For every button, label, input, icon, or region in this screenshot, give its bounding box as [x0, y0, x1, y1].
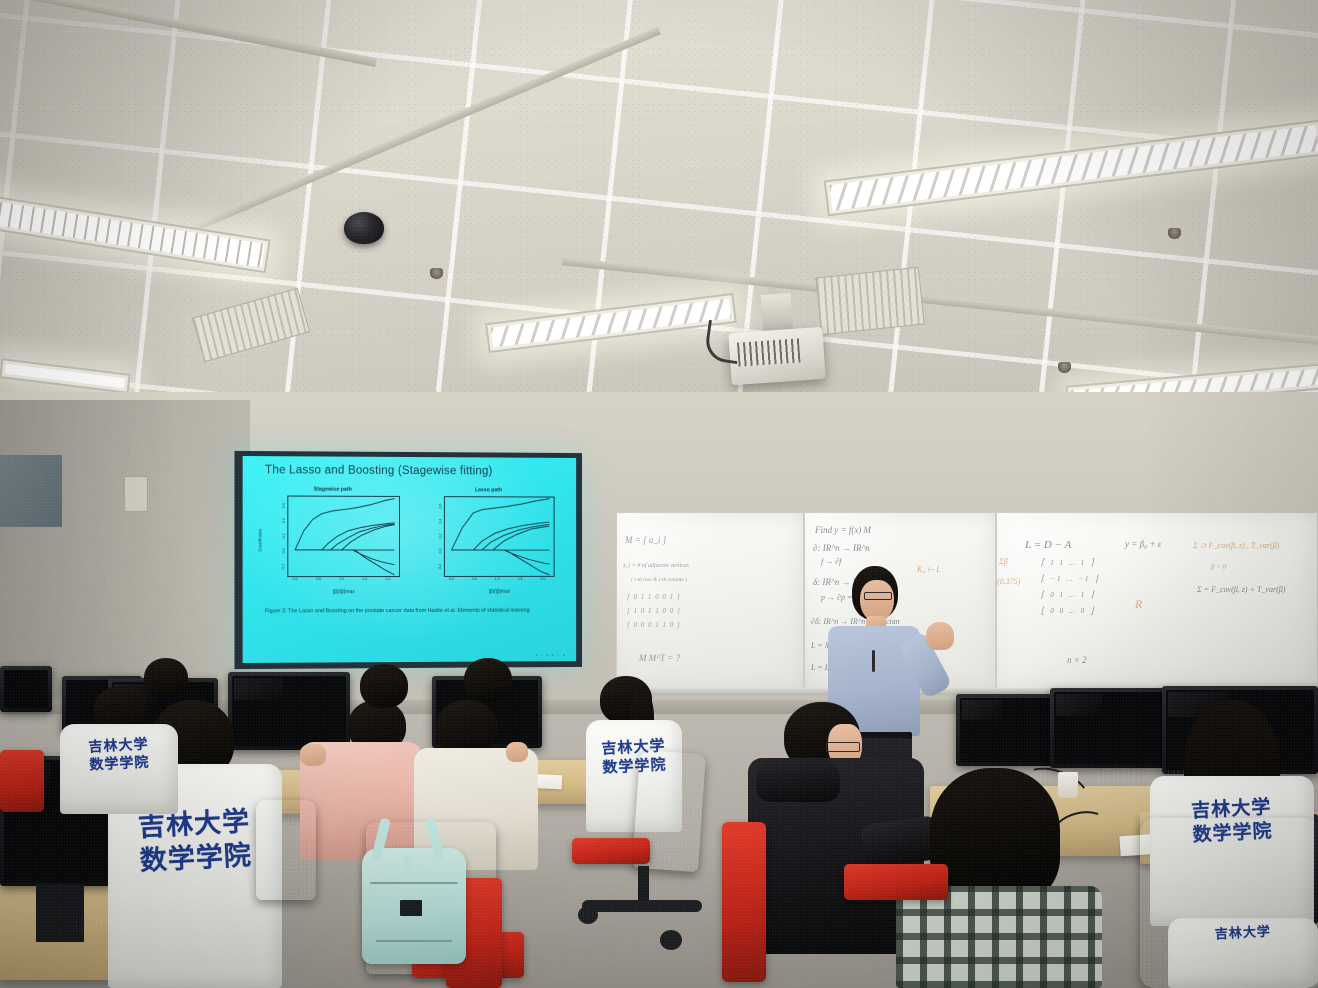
y-tick: 0.6: [282, 504, 286, 509]
computer-monitor: [0, 666, 52, 712]
instructor-raised-hand: [926, 622, 954, 650]
wb-note-highlight: Σ ⊃ F_cov(β, z) , T_var(β): [1193, 541, 1279, 550]
glasses-icon: [826, 742, 860, 752]
x-tick: 1.0: [495, 577, 500, 581]
wb-note: ∂: IR^n → IR^n: [813, 543, 870, 553]
wb-note-highlight: (0.375): [997, 577, 1020, 586]
monitor-glare: [962, 700, 1002, 720]
student-mid-row: [460, 658, 516, 718]
wb-note-highlight: β = 0: [1211, 563, 1226, 571]
slide-surface: The Lasso and Boosting (Stagewise fittin…: [243, 456, 577, 663]
red-stacking-chair[interactable]: [722, 822, 766, 982]
x-axis-label: |β|/|β|max: [287, 589, 400, 595]
left-wall-window-panel: [0, 455, 62, 527]
backpack[interactable]: [362, 848, 466, 964]
y-tick: 0.2: [438, 533, 442, 538]
security-camera-dome-icon: [344, 212, 384, 244]
y-tick: -0.2: [438, 563, 442, 569]
office-chair-back[interactable]: [1140, 818, 1318, 988]
panel-title: Stagewise path: [261, 486, 404, 493]
backpack-logo-tag: [400, 900, 422, 916]
office-chair-seat[interactable]: [572, 838, 650, 864]
wb-note: [ 1 0 1 1 0 0 ]: [627, 607, 681, 615]
backpack-handle: [404, 854, 412, 880]
y-axis-label: Coordinates: [257, 529, 262, 552]
wb-note-matrix: ⎣ 0 0 … 0 ⎦: [1041, 607, 1095, 615]
student-mid-row: [356, 664, 412, 724]
classroom-photo: The Lasso and Boosting (Stagewise fittin…: [0, 0, 1318, 988]
wb-note: x_i = # of adjacent vertices: [623, 563, 689, 569]
y-tick: -0.2: [281, 563, 285, 569]
wb-note: [ 0 1 1 0 0 1 ]: [627, 593, 681, 601]
student-head: [360, 664, 408, 708]
sprinkler-head-icon: [1058, 362, 1071, 373]
wb-note: ( i-th row & j-th column ): [631, 577, 687, 583]
wb-note-matrix: ⎢ −1 … −1 ⎥: [1041, 575, 1100, 583]
chart-panel-lasso: Lasso path -0.2 0.0 0.2 0.4 0.6 0.0 0.5 …: [418, 487, 559, 597]
x-tick: 1.5: [362, 577, 367, 581]
student-hair: [930, 768, 1060, 904]
wb-note-matrix: ⎡ 1 1 … 1 ⎤: [1041, 559, 1095, 567]
x-tick: 2.0: [385, 577, 390, 581]
wb-note: L = D − A: [1025, 539, 1071, 551]
x-tick: 0.5: [316, 577, 321, 581]
whiteboard-right[interactable]: L = D − A y = β₀ + ε Σ ⊃ F_cov(β, z) , T…: [996, 512, 1318, 690]
wall-control-box: [124, 476, 148, 512]
wb-note: f → ∂f: [821, 557, 841, 566]
slide-figure: Stagewise path Coordinates -0.2 0.0 0.2 …: [261, 486, 559, 597]
chair-base: [582, 900, 702, 912]
student-head: [464, 658, 512, 702]
computer-monitor: [956, 694, 1056, 766]
monitor-glare: [234, 678, 283, 700]
wb-note: M M^T = ?: [639, 653, 680, 663]
red-stacking-chair[interactable]: [0, 750, 44, 812]
lasso-path-curves: [445, 497, 554, 576]
x-tick: 0.0: [449, 577, 454, 581]
projection-screen: The Lasso and Boosting (Stagewise fittin…: [234, 451, 582, 669]
y-tick: 0.2: [282, 533, 286, 538]
shirt-university-text: 吉林大学 数学学院: [59, 735, 179, 776]
wb-note: M = [ a_i ]: [625, 535, 666, 545]
wb-note: y = β₀ + ε: [1125, 539, 1161, 549]
student-mid-row: [140, 658, 190, 718]
wb-note: Σ = F_cov(β, z) + T_var(β): [1197, 585, 1285, 594]
wb-note: n × 2: [1067, 655, 1087, 665]
slide-caption: Figure 3: The Lasso and Boosting on the …: [265, 607, 562, 616]
x-tick: 2.0: [540, 577, 545, 581]
student-head: [144, 658, 188, 698]
stagewise-path-curves: [288, 497, 399, 577]
y-tick: 0.6: [438, 504, 442, 509]
x-axis-label: |β|/|β|max: [444, 589, 555, 595]
wb-note-highlight: Σβ: [999, 557, 1008, 566]
backpack-zipper: [370, 882, 458, 884]
office-chair-back[interactable]: [256, 800, 316, 900]
y-tick: 0.4: [438, 518, 442, 523]
hoodie-hood: [756, 758, 840, 802]
chair-caster: [660, 930, 682, 950]
lapel-microphone: [872, 650, 875, 672]
slide-navigation-controls[interactable]: ◂ ▪ ◂ ▸ ▪ ▸: [535, 652, 566, 657]
plot-area: -0.2 0.0 0.2 0.4 0.6 0.0 0.5 1.0 1.5 2.0: [444, 496, 555, 577]
student-shirt: [896, 886, 1102, 988]
chart-panel-stagewise: Stagewise path Coordinates -0.2 0.0 0.2 …: [261, 486, 404, 597]
sprinkler-head-icon: [430, 268, 443, 279]
whiteboard-left[interactable]: M = [ a_i ] x_i = # of adjacent vertices…: [616, 512, 804, 690]
y-tick: 0.4: [282, 518, 286, 523]
red-stacking-chair[interactable]: [844, 864, 948, 900]
student-hand: [506, 742, 528, 762]
student-shirt: 吉林大学 数学学院: [60, 724, 178, 814]
monitor-stand: [36, 884, 84, 942]
hvac-vent: [815, 267, 924, 336]
sprinkler-head-icon: [1168, 228, 1181, 239]
x-tick: 1.0: [339, 577, 344, 581]
slide-title: The Lasso and Boosting (Stagewise fittin…: [265, 464, 493, 477]
panel-title: Lasso path: [418, 487, 559, 494]
student-hand: [300, 744, 326, 766]
monitor-screen: [4, 670, 48, 708]
monitor-glare: [1056, 694, 1102, 716]
wb-note-highlight: R: [1135, 597, 1142, 612]
wb-note: [ 0 0 0 1 1 0 ]: [627, 621, 681, 629]
x-tick: 0.5: [472, 577, 477, 581]
wb-note: Find y = f(x) M: [815, 525, 871, 535]
backpack-zipper: [376, 940, 452, 942]
projector: [728, 327, 825, 385]
x-tick: 0.0: [292, 577, 297, 581]
glasses-icon: [864, 592, 892, 600]
x-tick: 1.5: [518, 577, 523, 581]
y-tick: 0.0: [438, 548, 442, 553]
chair-caster: [578, 906, 598, 924]
projector-vent-grille: [737, 338, 801, 366]
wb-note-matrix: ⎢ 0 1 … 1 ⎥: [1041, 591, 1095, 599]
y-tick: 0.0: [282, 548, 286, 553]
plot-area: -0.2 0.0 0.2 0.4 0.6 0.0 0.5 1.0 1.5 2.0: [287, 496, 400, 578]
